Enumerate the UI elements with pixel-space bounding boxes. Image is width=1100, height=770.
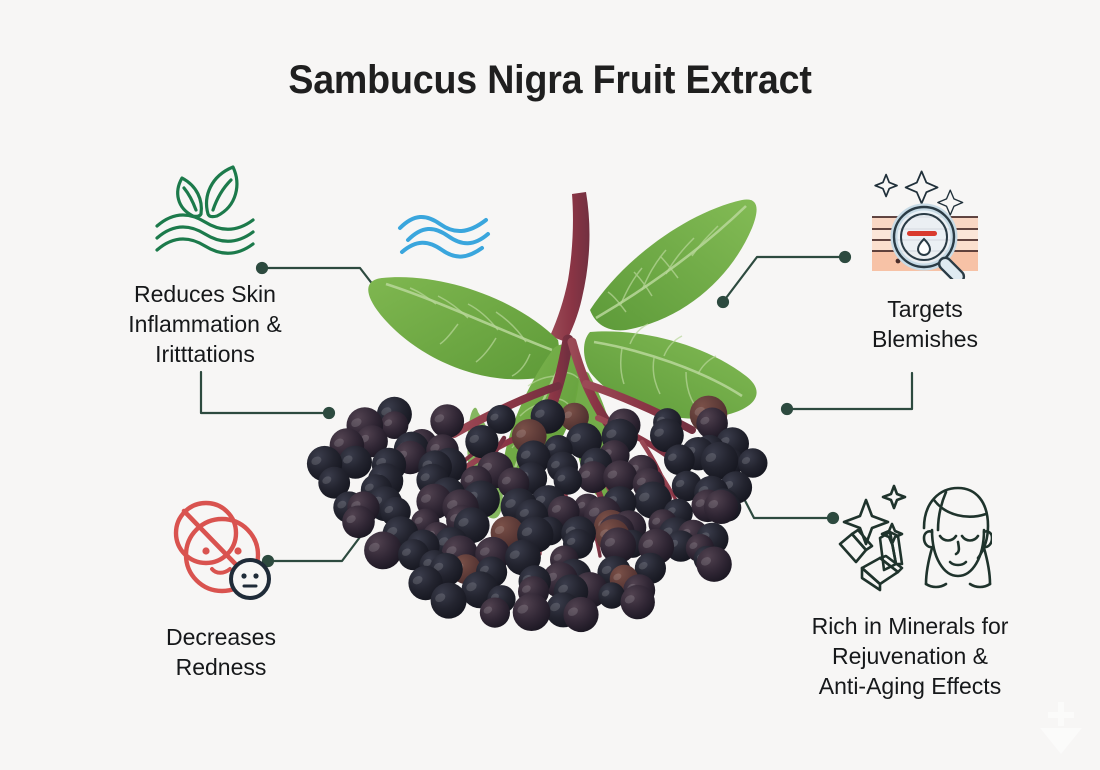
brand-watermark [1034, 698, 1088, 760]
berry-cluster [307, 396, 768, 633]
feature-blemishes[interactable]: Targets Blemishes [800, 163, 1050, 354]
feature-inflammation[interactable]: Reduces Skin Inflammation & Iritttations [80, 160, 330, 369]
infographic-canvas: Sambucus Nigra Fruit Extract [0, 0, 1100, 770]
crystals-face-icon [775, 478, 1045, 601]
feature-caption: Rich in Minerals for Rejuvenation & Anti… [775, 611, 1045, 701]
feature-redness[interactable]: Decreases Redness [96, 495, 346, 682]
elderberry-illustration [290, 180, 810, 640]
feature-minerals[interactable]: Rich in Minerals for Rejuvenation & Anti… [775, 478, 1045, 701]
feature-caption: Reduces Skin Inflammation & Iritttations [80, 279, 330, 369]
page-title: Sambucus Nigra Fruit Extract [33, 58, 1067, 103]
feature-caption: Decreases Redness [96, 622, 346, 682]
leaf-mid-right [584, 324, 757, 419]
feature-caption: Targets Blemishes [800, 294, 1050, 354]
magnifier-skin-icon [800, 163, 1050, 284]
leaf-upper-left [368, 277, 559, 379]
leaf-waves-icon [80, 160, 330, 269]
leaf-upper-right [590, 200, 757, 331]
plant-stems [550, 192, 589, 342]
blue-waves-icon [396, 212, 492, 264]
no-redness-face-icon [96, 495, 346, 612]
